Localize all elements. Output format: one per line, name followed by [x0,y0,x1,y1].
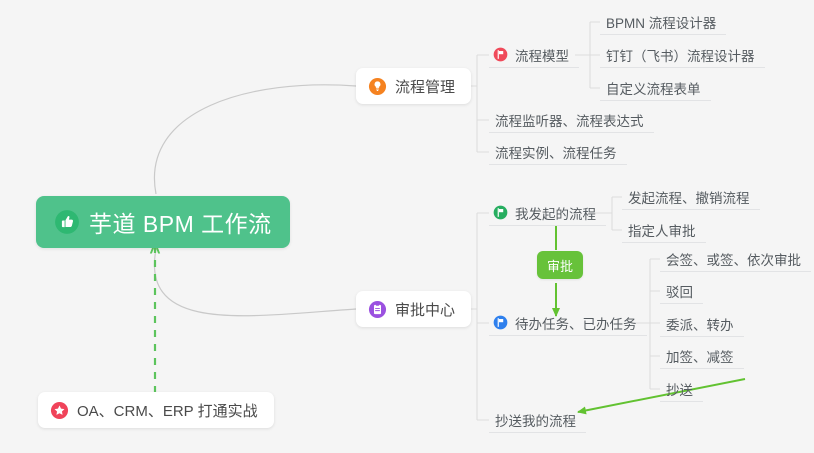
leaf-label-dingtalk-feishu-designer: 钉钉（飞书）流程设计器 [606,45,755,65]
node-my-initiated-processes[interactable]: 我发起的流程 [489,200,606,226]
root-label: 芋道 BPM 工作流 [89,205,272,239]
floating-node-label-integration: OA、CRM、ERP 打通实战 [77,400,258,421]
node-process-model[interactable]: 流程模型 [489,42,579,68]
floating-node-integration[interactable]: OA、CRM、ERP 打通实战 [38,392,274,428]
leaf-label-process-listener-expression: 流程监听器、流程表达式 [495,110,644,130]
flag-icon [493,47,508,62]
leaf-carbon-copy[interactable]: 抄送 [660,376,703,402]
node-label-process-model: 流程模型 [515,45,569,65]
root-node[interactable]: 芋道 BPM 工作流 [36,196,290,248]
leaf-label-countersign-modes: 会签、或签、依次审批 [666,249,801,269]
lightbulb-pin-icon [368,77,387,96]
leaf-label-carbon-copy: 抄送 [666,379,693,399]
leaf-label-custom-process-form: 自定义流程表单 [606,78,701,98]
thumbs-up-icon [54,209,80,235]
node-label-my-initiated-processes: 我发起的流程 [515,203,596,223]
leaf-process-listener-expression[interactable]: 流程监听器、流程表达式 [489,107,654,133]
wire-root-to-process-mgmt [154,85,356,194]
star-icon [50,401,69,420]
branch-node-approval-center[interactable]: 审批中心 [356,291,471,327]
wire-root-to-approval-center [154,249,356,316]
leaf-label-process-instance-task: 流程实例、流程任务 [495,142,617,162]
leaf-bpmn-designer[interactable]: BPMN 流程设计器 [600,9,726,35]
leaf-label-cc-my-processes: 抄送我的流程 [495,410,576,430]
leaf-add-remove-sign[interactable]: 加签、减签 [660,343,744,369]
branch-label-process-management: 流程管理 [395,76,455,97]
leaf-custom-process-form[interactable]: 自定义流程表单 [600,75,711,101]
leaf-label-start-cancel-process: 发起流程、撤销流程 [628,187,750,207]
leaf-label-assigned-approver: 指定人审批 [628,220,696,240]
node-todo-done-tasks[interactable]: 待办任务、已办任务 [489,310,647,336]
branch-label-approval-center: 审批中心 [395,299,455,320]
clipboard-icon [368,300,387,319]
annotation-approval-label: 审批 [547,256,573,275]
leaf-countersign-modes[interactable]: 会签、或签、依次审批 [660,246,811,272]
flag-icon [493,205,508,220]
leaf-reject[interactable]: 驳回 [660,278,703,304]
leaf-label-add-remove-sign: 加签、减签 [666,346,734,366]
leaf-start-cancel-process[interactable]: 发起流程、撤销流程 [622,184,760,210]
leaf-delegate-transfer[interactable]: 委派、转办 [660,311,744,337]
leaf-label-delegate-transfer: 委派、转办 [666,314,734,334]
annotation-approval-badge: 审批 [537,251,583,279]
flag-icon [493,315,508,330]
mindmap-canvas: 芋道 BPM 工作流 流程管理 流程模型 BPMN 流程设计器 钉钉（飞书 [0,0,814,453]
leaf-label-bpmn-designer: BPMN 流程设计器 [606,12,716,32]
leaf-cc-my-processes[interactable]: 抄送我的流程 [489,407,586,433]
branch-node-process-management[interactable]: 流程管理 [356,68,471,104]
leaf-dingtalk-feishu-designer[interactable]: 钉钉（飞书）流程设计器 [600,42,765,68]
leaf-process-instance-task[interactable]: 流程实例、流程任务 [489,139,627,165]
leaf-assigned-approver[interactable]: 指定人审批 [622,217,706,243]
leaf-label-reject: 驳回 [666,281,693,301]
node-label-todo-done-tasks: 待办任务、已办任务 [515,313,637,333]
